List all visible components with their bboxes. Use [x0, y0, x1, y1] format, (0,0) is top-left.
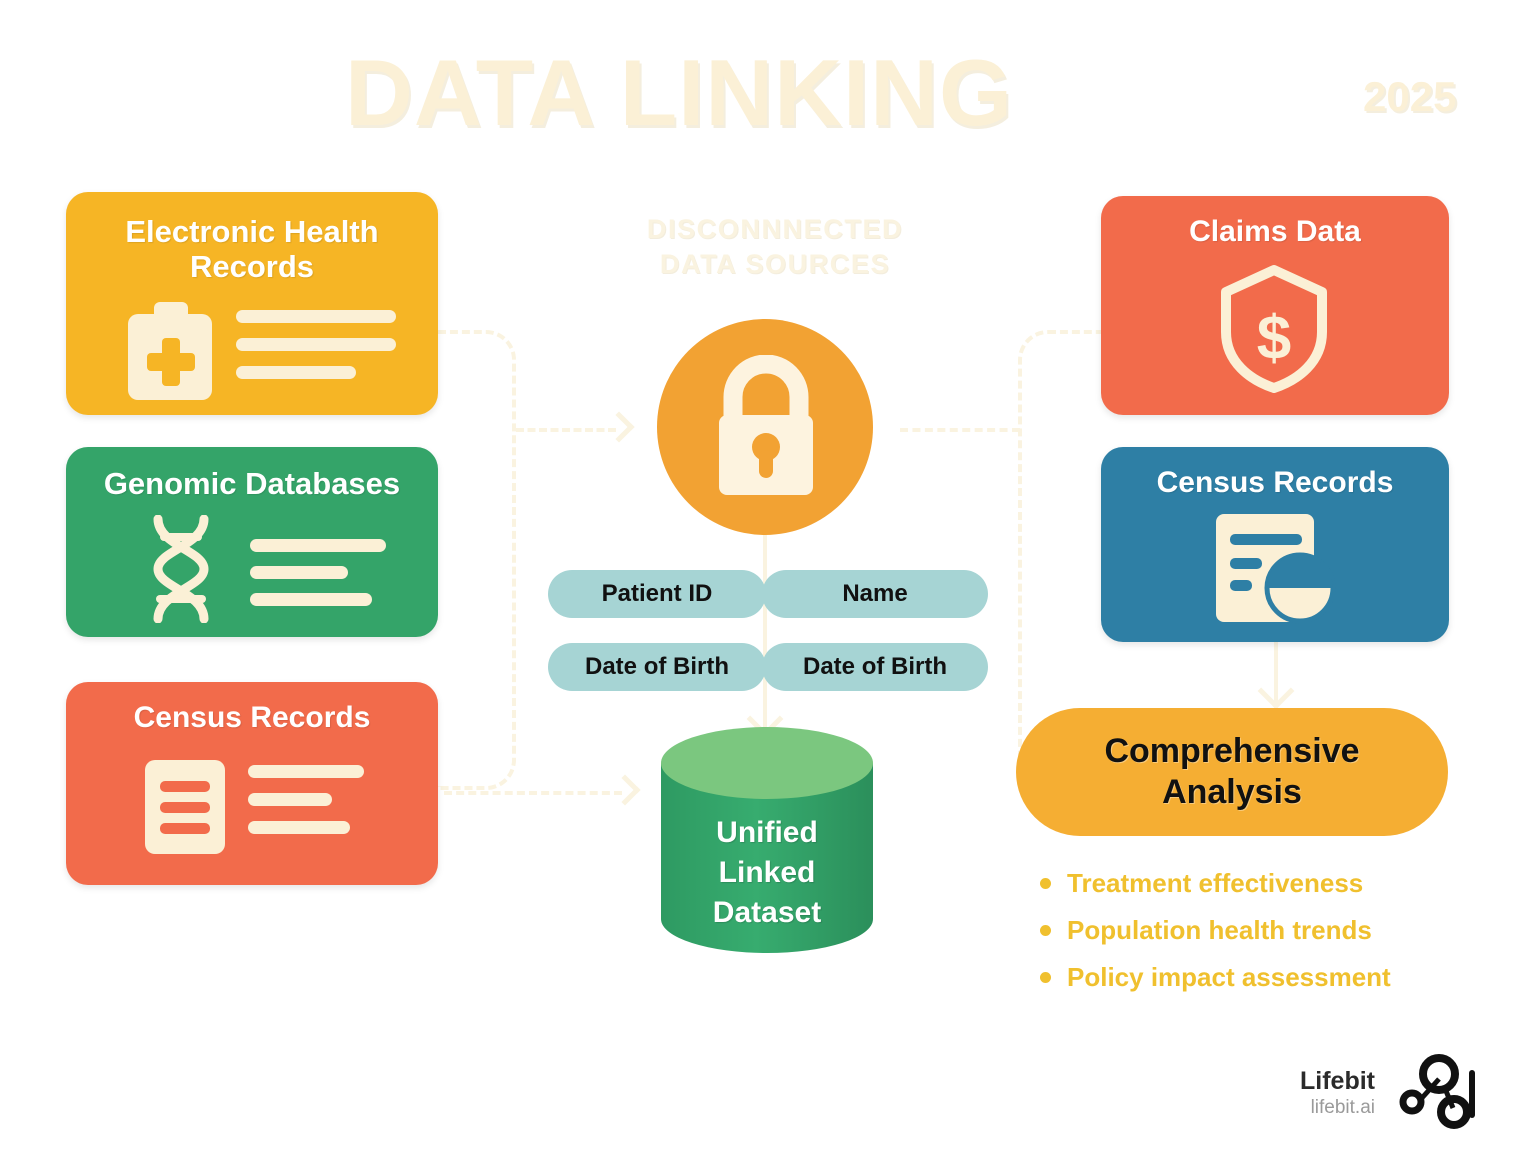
benefit-label: Treatment effectiveness — [1067, 868, 1363, 899]
link-field-chip-date-of-birth-left[interactable]: Date of Birth — [548, 643, 766, 691]
caption-line-2: DATA SOURCES — [575, 247, 975, 282]
cylinder-top-ellipse — [661, 727, 873, 799]
census-to-dataset-line — [444, 791, 622, 795]
dataset-line-1: Unified — [661, 813, 873, 853]
unified-linked-dataset-cylinder[interactable]: Unified Linked Dataset — [661, 727, 873, 970]
text-lines-genomic — [250, 539, 420, 619]
right-bracket-arrow-line — [900, 428, 1020, 432]
svg-text:$: $ — [1257, 304, 1291, 373]
analysis-line-1: Comprehensive — [1104, 731, 1359, 772]
list-item: Policy impact assessment — [1040, 954, 1460, 1001]
analysis-label: Comprehensive Analysis — [1104, 731, 1359, 813]
card-title-ehr: Electronic Health Records — [66, 214, 438, 285]
benefit-label: Population health trends — [1067, 915, 1372, 946]
list-item: Treatment effectiveness — [1040, 860, 1460, 907]
benefit-label: Policy impact assessment — [1067, 962, 1391, 993]
clipboard-medical-icon — [122, 300, 218, 409]
lock-node[interactable] — [657, 319, 873, 535]
page-title: DATA LINKING — [345, 46, 1013, 140]
caption-line-1: DISCONNNECTED — [575, 212, 975, 247]
source-card-census-records-right[interactable]: Census Records — [1101, 447, 1449, 642]
census-to-analysis-arrow-head — [1258, 673, 1295, 710]
link-field-chip-patient-id[interactable]: Patient ID — [548, 570, 766, 618]
cylinder-label: Unified Linked Dataset — [661, 813, 873, 933]
link-field-chip-name[interactable]: Name — [762, 570, 988, 618]
source-card-genomic-databases[interactable]: Genomic Databases — [66, 447, 438, 637]
card-title-census-right: Census Records — [1101, 466, 1449, 500]
card-title-census-left: Census Records — [66, 701, 438, 735]
lifebit-logo[interactable]: Lifebit lifebit.ai — [1300, 1052, 1475, 1137]
link-field-chip-date-of-birth-right[interactable]: Date of Birth — [762, 643, 988, 691]
comprehensive-analysis-pill[interactable]: Comprehensive Analysis — [1016, 708, 1448, 836]
source-card-census-records-left[interactable]: Census Records — [66, 682, 438, 885]
node-graph-logo-icon — [1389, 1052, 1475, 1137]
infographic-canvas: DATA LINKING 2025 DISCONNNECTED DATA SOU… — [0, 0, 1536, 1154]
list-item: Population health trends — [1040, 907, 1460, 954]
disconnected-sources-caption: DISCONNNECTED DATA SOURCES — [575, 212, 975, 281]
source-card-electronic-health-records[interactable]: Electronic Health Records — [66, 192, 438, 415]
text-lines-ehr — [236, 310, 406, 390]
card-title-claims: Claims Data — [1101, 215, 1449, 249]
benefits-list: Treatment effectiveness Population healt… — [1040, 860, 1460, 1001]
bullet-icon — [1040, 925, 1051, 936]
card-title-genomic: Genomic Databases — [66, 466, 438, 501]
shield-dollar-icon: $ — [1214, 264, 1334, 399]
bullet-icon — [1040, 878, 1051, 889]
source-card-claims-data[interactable]: Claims Data $ — [1101, 196, 1449, 415]
left-bracket-arrow-line — [516, 428, 616, 432]
dataset-line-2: Linked — [661, 853, 873, 893]
left-bracket-arrow-head — [603, 411, 634, 442]
document-lines-icon — [144, 759, 226, 860]
dna-helix-icon — [142, 515, 220, 628]
dataset-line-3: Dataset — [661, 893, 873, 933]
document-piechart-icon — [1214, 512, 1338, 629]
census-to-dataset-arrow-head — [609, 774, 640, 805]
logo-text: Lifebit lifebit.ai — [1300, 1068, 1375, 1120]
brand-url: lifebit.ai — [1300, 1096, 1375, 1121]
text-lines-census-left — [248, 765, 428, 845]
brand-name: Lifebit — [1300, 1068, 1375, 1096]
bullet-icon — [1040, 972, 1051, 983]
left-bracket-connector — [438, 330, 516, 790]
lock-icon — [707, 355, 825, 506]
year-badge: 2025 — [1363, 73, 1456, 121]
analysis-line-2: Analysis — [1104, 772, 1359, 813]
